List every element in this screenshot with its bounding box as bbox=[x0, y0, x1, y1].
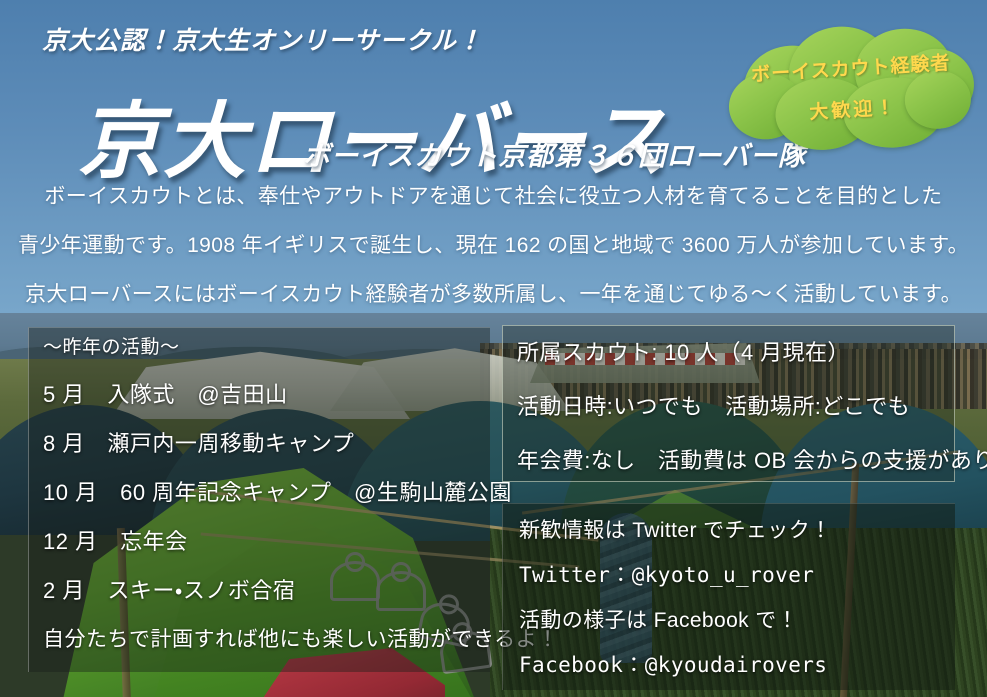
sns-handle-twitter[interactable]: Twitter：@kyoto_u_rover bbox=[519, 565, 955, 586]
cloud-text-group: ボーイスカウト経験者 大歓迎！ bbox=[724, 17, 979, 160]
welcome-cloud-badge: ボーイスカウト経験者 大歓迎！ bbox=[724, 17, 979, 160]
intro-paragraph: ボーイスカウトとは、奉仕やアウトドアを通じて社会に役立つ人材を育てることを目的と… bbox=[0, 180, 987, 308]
club-info-line: 所属スカウト: 10 人（4 月現在） bbox=[517, 342, 954, 364]
intro-line: 京大ローバースにはボーイスカウト経験者が多数所属し、一年を通じてゆる～く活動して… bbox=[25, 278, 962, 308]
activity-item: 10 月 60 周年記念キャンプ @生駒山麓公園 bbox=[29, 482, 490, 504]
sns-line-facebook-promo: 活動の様子は Facebook で！ bbox=[519, 610, 955, 631]
activity-item: 8 月 瀬戸内一周移動キャンプ bbox=[29, 433, 490, 455]
cloud-badge-line-1: ボーイスカウト経験者 bbox=[750, 48, 951, 87]
activity-item: 12 月 忘年会 bbox=[29, 531, 490, 553]
sns-box: 新歓情報は Twitter でチェック！ Twitter：@kyoto_u_ro… bbox=[502, 503, 955, 690]
poster-canvas: 京大公認！京大生オンリーサークル！ 京大ローバース ボーイスカウト京都第３６団ロ… bbox=[0, 0, 987, 697]
sns-handle-facebook[interactable]: Facebook：@kyoudairovers bbox=[519, 655, 955, 676]
activities-footnote: 自分たちで計画すれば他にも楽しい活動ができるよ！ bbox=[29, 629, 490, 650]
activities-panel: ～昨年の活動～ 5 月 入隊式 @吉田山 8 月 瀬戸内一周移動キャンプ 10 … bbox=[28, 327, 490, 672]
catch-copy: 京大公認！京大生オンリーサークル！ bbox=[42, 21, 483, 57]
intro-line: ボーイスカウトとは、奉仕やアウトドアを通じて社会に役立つ人材を育てることを目的と… bbox=[44, 180, 942, 210]
intro-line: 青少年運動です。1908 年イギリスで誕生し、現在 162 の国と地域で 360… bbox=[18, 229, 969, 259]
club-info-box: 所属スカウト: 10 人（4 月現在） 活動日時:いつでも 活動場所:どこでも … bbox=[502, 325, 955, 482]
activities-heading: ～昨年の活動～ bbox=[29, 336, 490, 357]
cloud-badge-line-2: 大歓迎！ bbox=[808, 92, 897, 124]
club-info-line: 年会費:なし 活動費は OB 会からの支援があります bbox=[517, 450, 954, 472]
club-info-line: 活動日時:いつでも 活動場所:どこでも bbox=[517, 396, 954, 418]
activity-item: 2 月 スキー・スノボ合宿 bbox=[29, 580, 490, 602]
sns-line-twitter-promo: 新歓情報は Twitter でチェック！ bbox=[519, 520, 955, 541]
activity-item: 5 月 入隊式 @吉田山 bbox=[29, 384, 490, 406]
